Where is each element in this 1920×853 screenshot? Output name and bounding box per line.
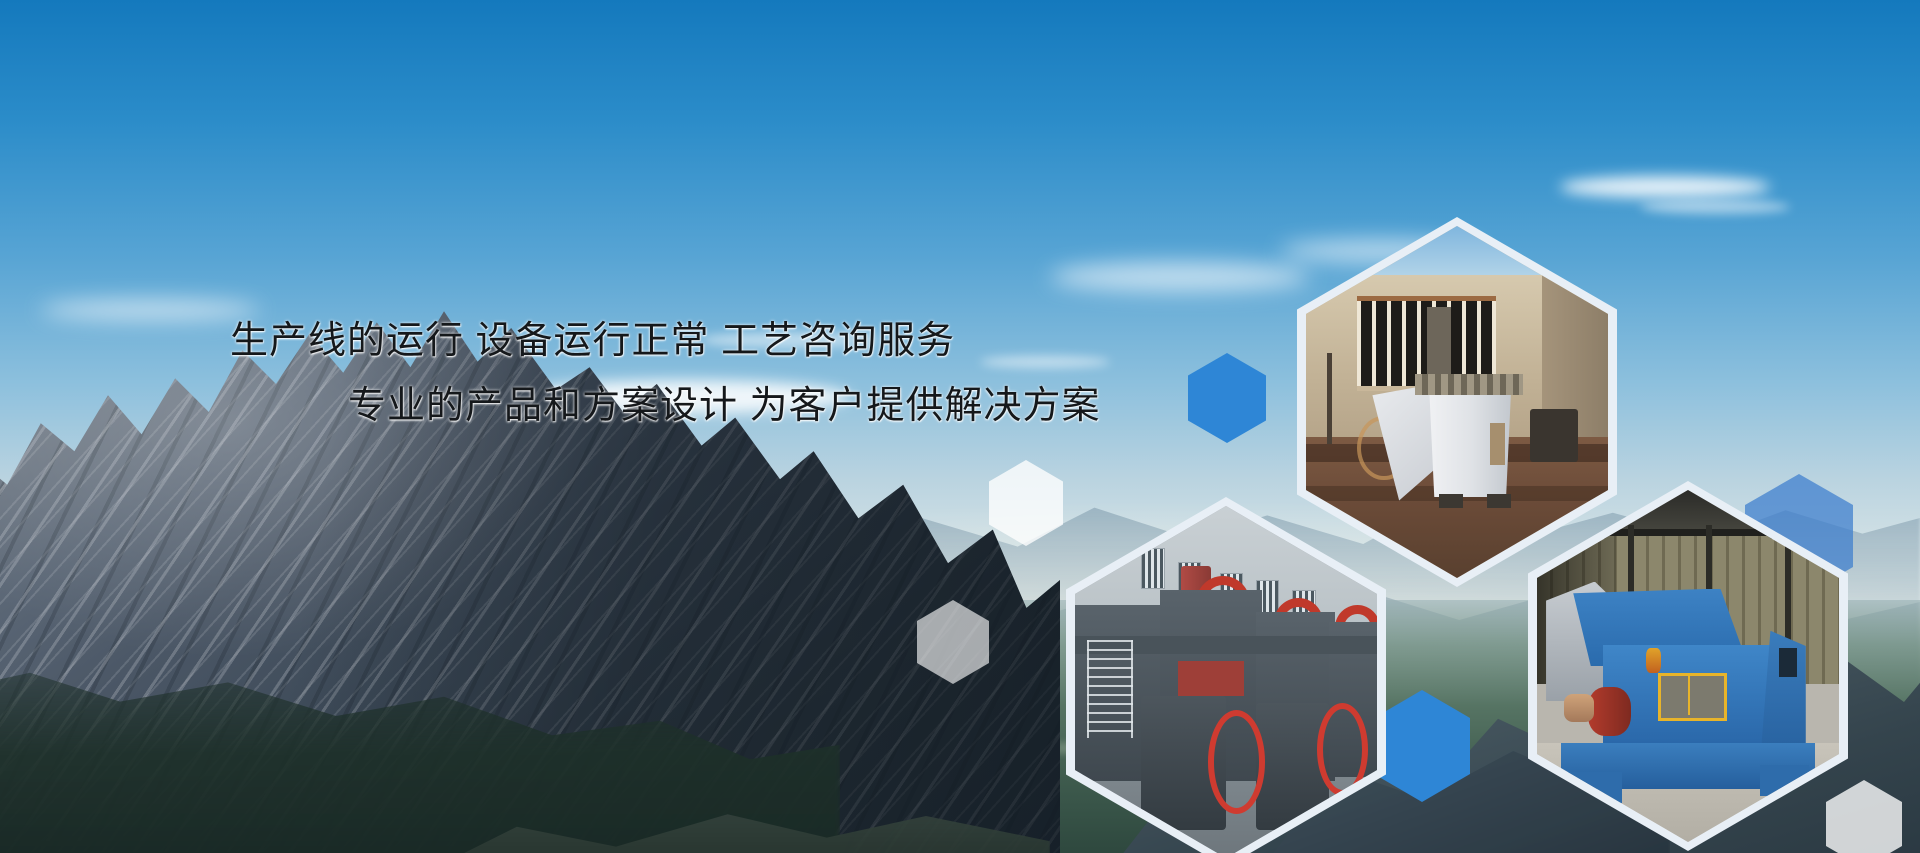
headline-line-2: 专业的产品和方案设计 为客户提供解决方案 xyxy=(348,387,1130,425)
headline-block: 生产线的运行 设备运行正常 工艺咨询服务 专业的产品和方案设计 为客户提供解决方… xyxy=(230,322,1130,425)
cloud-2 xyxy=(1640,200,1790,214)
photo-hexagon-press xyxy=(1066,497,1386,853)
cloud-1 xyxy=(1560,176,1770,198)
headline-line-1: 生产线的运行 设备运行正常 工艺咨询服务 xyxy=(230,322,1130,360)
cloud-6 xyxy=(40,300,260,320)
cloud-7 xyxy=(1050,262,1310,292)
hero-banner: 生产线的运行 设备运行正常 工艺咨询服务 专业的产品和方案设计 为客户提供解决方… xyxy=(0,0,1920,853)
photo-hexagon-shredder xyxy=(1528,481,1848,851)
